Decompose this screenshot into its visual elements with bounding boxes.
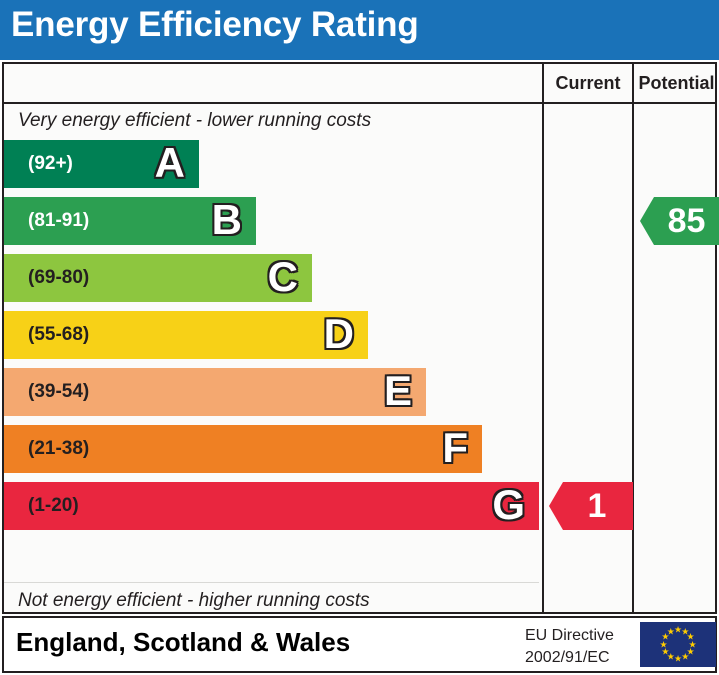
rating-band-e: (39-54)E (4, 368, 426, 416)
footer-region-label: England, Scotland & Wales (16, 627, 350, 658)
band-letter-label: A (155, 142, 185, 184)
rating-band-c: (69-80)C (4, 254, 312, 302)
page-title: Energy Efficiency Rating (11, 5, 419, 45)
eu-flag-star: ★ (681, 653, 689, 662)
column-divider-current (542, 64, 544, 612)
rating-value-potential: 85 (668, 204, 706, 238)
rating-band-a: (92+)A (4, 140, 199, 188)
rating-chart: Current Potential Very energy efficient … (2, 62, 717, 614)
band-letter-label: C (268, 256, 298, 298)
eu-flag-star: ★ (667, 627, 675, 636)
rating-band-f: (21-38)F (4, 425, 482, 473)
column-header-potential: Potential (634, 73, 719, 94)
header-row-divider (4, 102, 715, 104)
band-letter-label: D (324, 313, 354, 355)
footer-bar: England, Scotland & Wales EU Directive 2… (2, 616, 717, 673)
band-range-label: (81-91) (28, 210, 89, 232)
caption-inefficient: Not energy efficient - higher running co… (18, 590, 370, 612)
band-range-label: (69-80) (28, 267, 89, 289)
eu-flag-star: ★ (674, 655, 682, 664)
band-range-label: (92+) (28, 153, 73, 175)
rating-badge-current: 1 (549, 482, 633, 530)
rating-value-current: 1 (588, 489, 607, 523)
footer-directive: EU Directive 2002/91/EC (525, 625, 614, 668)
epc-certificate: Energy Efficiency Rating Current Potenti… (0, 0, 719, 675)
rating-badge-potential: 85 (640, 197, 719, 245)
band-range-label: (39-54) (28, 381, 89, 403)
directive-line-1: EU Directive (525, 625, 614, 647)
band-letter-label: F (442, 427, 468, 469)
rating-band-b: (81-91)B (4, 197, 256, 245)
bands-bottom-divider (4, 582, 539, 583)
title-banner: Energy Efficiency Rating (0, 0, 719, 60)
band-letter-label: G (492, 484, 525, 526)
directive-line-2: 2002/91/EC (525, 647, 614, 669)
band-range-label: (21-38) (28, 438, 89, 460)
band-letter-label: E (384, 370, 412, 412)
eu-flag-icon: ★★★★★★★★★★★★ (640, 622, 716, 667)
band-range-label: (55-68) (28, 324, 89, 346)
rating-band-d: (55-68)D (4, 311, 368, 359)
caption-efficient: Very energy efficient - lower running co… (18, 110, 371, 132)
column-header-current: Current (544, 73, 632, 94)
band-range-label: (1-20) (28, 495, 79, 517)
band-letter-label: B (212, 199, 242, 241)
rating-band-g: (1-20)G (4, 482, 539, 530)
